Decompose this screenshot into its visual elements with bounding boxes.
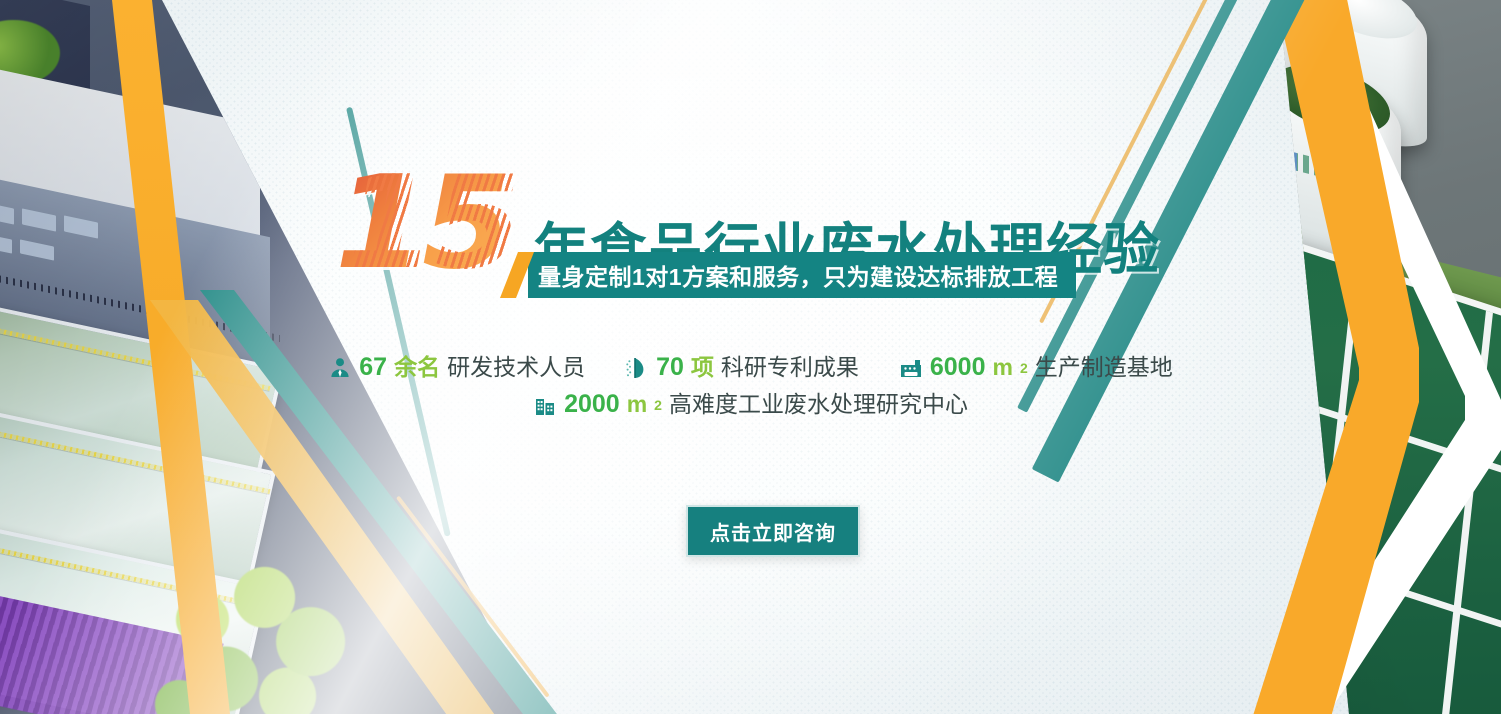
stat-number: 6000 [930, 355, 986, 380]
person-icon [328, 356, 352, 380]
stat-unit-superscript: 2 [1020, 361, 1028, 375]
stat-item-staff: 67 余名 研发技术人员 [328, 355, 585, 380]
stat-number: 70 [656, 355, 684, 380]
stat-label: 研发技术人员 [447, 356, 585, 379]
stat-item-patents: 70 项 科研专利成果 [625, 355, 859, 380]
years-number: 15 [335, 160, 519, 288]
stat-label: 高难度工业废水处理研究中心 [669, 393, 968, 416]
stat-item-research-center: 2000 m 2 高难度工业废水处理研究中心 [533, 392, 968, 417]
stat-unit: m [993, 356, 1013, 379]
stat-item-factory: 6000 m 2 生产制造基地 [899, 355, 1173, 380]
stat-label: 生产制造基地 [1035, 356, 1173, 379]
stat-label: 科研专利成果 [721, 356, 859, 379]
stat-number: 67 [359, 355, 387, 380]
leaf-patent-icon [625, 356, 649, 380]
stats-row-1: 67 余名 研发技术人员 70 项 [328, 355, 1173, 380]
banner-content: 15 年食品行业废水处理经验 量身定制1对1方案和服务，只为建设达标排放工程 6… [0, 0, 1501, 714]
hero-banner: 15 年食品行业废水处理经验 量身定制1对1方案和服务，只为建设达标排放工程 6… [0, 0, 1501, 714]
subtitle-text: 量身定制1对1方案和服务，只为建设达标排放工程 [528, 252, 1076, 298]
stat-unit: 余名 [394, 356, 440, 379]
consult-now-button[interactable]: 点击立即咨询 [686, 505, 860, 557]
factory-icon [899, 356, 923, 380]
stat-unit: 项 [691, 356, 714, 379]
stats-row-2: 2000 m 2 高难度工业废水处理研究中心 [533, 392, 968, 417]
stat-unit-superscript: 2 [654, 398, 662, 412]
stat-number: 2000 [564, 392, 620, 417]
stats-section: 67 余名 研发技术人员 70 项 [0, 355, 1501, 417]
stat-unit: m [627, 393, 647, 416]
subtitle-bar: 量身定制1对1方案和服务，只为建设达标排放工程 [500, 252, 1076, 298]
building-icon [533, 393, 557, 417]
